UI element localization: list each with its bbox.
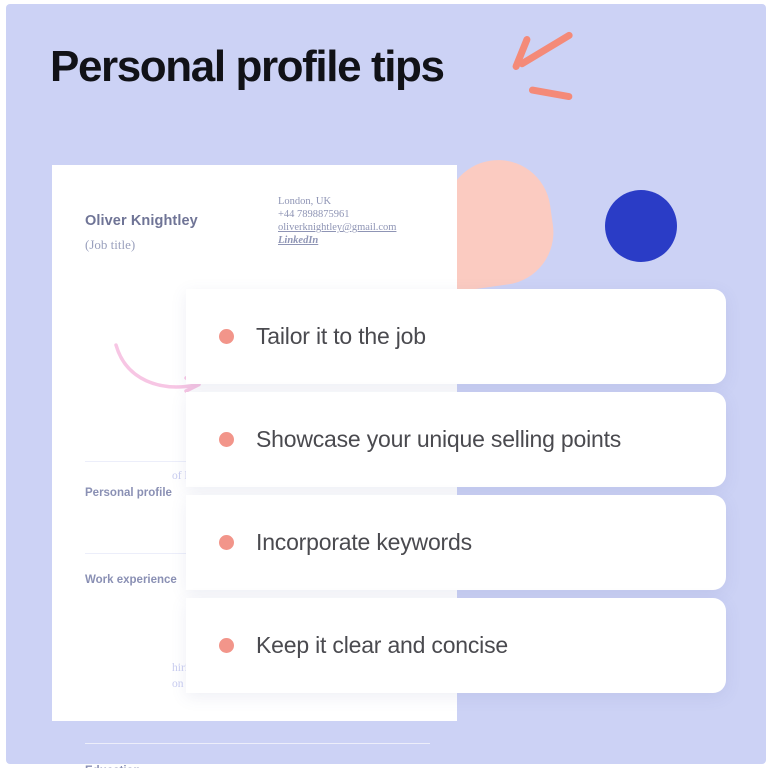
- tip-label: Showcase your unique selling points: [256, 426, 621, 453]
- section-label-education: Education: [85, 761, 180, 768]
- tip-card[interactable]: Incorporate keywords: [186, 495, 726, 590]
- tip-card[interactable]: Showcase your unique selling points: [186, 392, 726, 487]
- contact-linkedin-link[interactable]: LinkedIn: [278, 234, 396, 247]
- page-title: Personal profile tips: [50, 42, 444, 92]
- tip-card[interactable]: Keep it clear and concise: [186, 598, 726, 693]
- blue-circle-shape: [605, 190, 677, 262]
- resume-job-title: (Job title): [85, 237, 135, 253]
- divider: [85, 743, 430, 744]
- resume-name: Oliver Knightley: [85, 213, 198, 229]
- resume-contact-block: London, UK +44 7898875961 oliverknightle…: [278, 195, 396, 247]
- bullet-dot-icon: [219, 432, 234, 447]
- tip-card[interactable]: Tailor it to the job: [186, 289, 726, 384]
- tip-label: Incorporate keywords: [256, 529, 472, 556]
- poster-canvas: Personal profile tips Oliver Knightley (…: [0, 0, 768, 768]
- tip-label: Keep it clear and concise: [256, 632, 508, 659]
- contact-location: London, UK: [278, 195, 396, 208]
- contact-phone: +44 7898875961: [278, 208, 396, 221]
- bullet-dot-icon: [219, 535, 234, 550]
- section-label-personal-profile: Personal profile: [85, 483, 180, 503]
- tip-label: Tailor it to the job: [256, 323, 426, 350]
- contact-email[interactable]: oliverknightley@gmail.com: [278, 221, 396, 234]
- section-label-work-experience: Work experience: [85, 570, 180, 590]
- bullet-dot-icon: [219, 638, 234, 653]
- bullet-dot-icon: [219, 329, 234, 344]
